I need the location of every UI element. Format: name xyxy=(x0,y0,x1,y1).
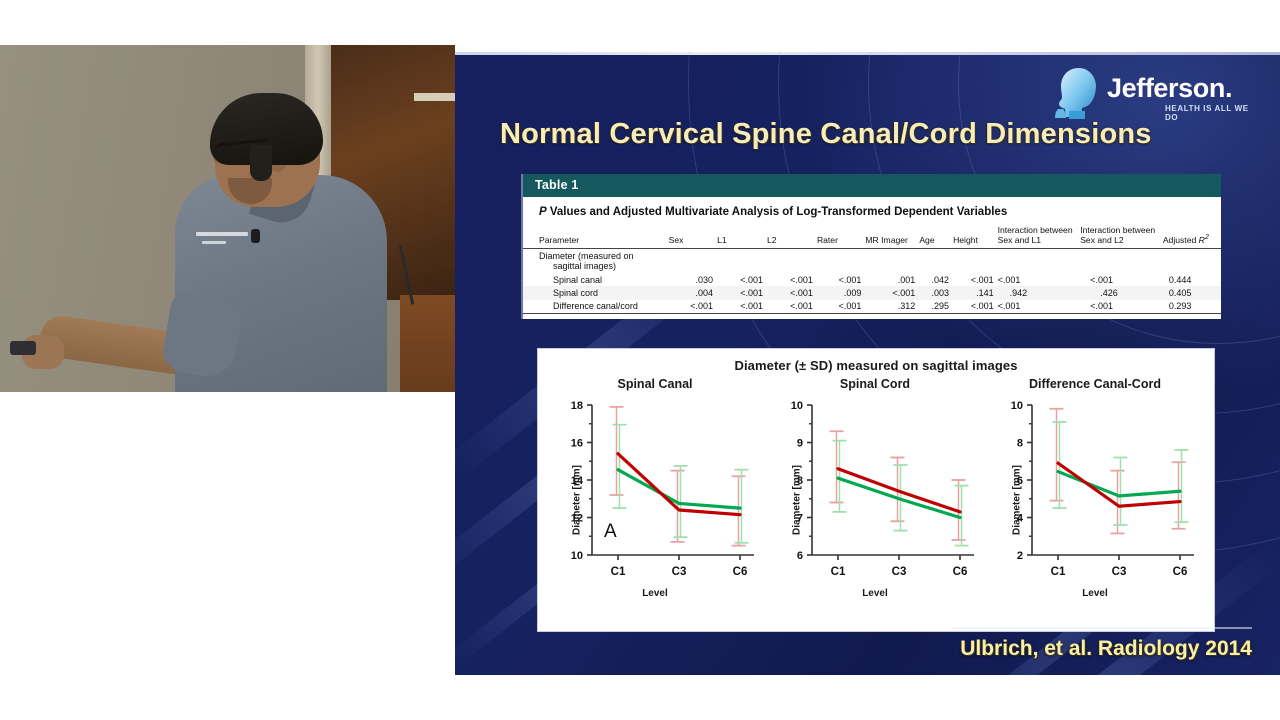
th-l2: L2 xyxy=(765,226,815,249)
cell-parameter: Spinal canal xyxy=(523,273,667,286)
svg-text:16: 16 xyxy=(571,438,583,450)
th-adjr2-text: Adjusted xyxy=(1163,235,1196,245)
cell-l1: <.001 xyxy=(715,300,765,313)
svg-text:10: 10 xyxy=(791,400,803,412)
table-row: Spinal canal .030 <.001 <.001 <.001 .001… xyxy=(523,273,1221,286)
svg-text:C1: C1 xyxy=(611,566,626,578)
panel-title: Spinal Cord xyxy=(766,377,984,395)
cell-l2: <.001 xyxy=(765,273,815,286)
figure-card: Diameter (± SD) measured on sagittal ima… xyxy=(537,348,1215,632)
th-int-l2-line1: Interaction between xyxy=(1080,225,1155,235)
svg-text:C1: C1 xyxy=(1051,566,1066,578)
table-bottom-rule xyxy=(523,313,1221,319)
th-l1: L1 xyxy=(715,226,765,249)
lapel-microphone xyxy=(251,229,260,243)
plot-area: 678910C1C3C6 Diameter [mm] Level xyxy=(766,395,984,605)
cell-age: .003 xyxy=(917,286,951,299)
svg-text:18: 18 xyxy=(571,400,583,412)
cell-rater: <.001 xyxy=(815,273,863,286)
cell-int-sex-l1: <.001 xyxy=(996,273,1079,286)
cell-int-sex-l2: <.001 xyxy=(1078,273,1161,286)
table-row: Spinal cord .004 <.001 <.001 .009 <.001 … xyxy=(523,286,1221,299)
caption-rest: Values and Adjusted Multivariate Analysi… xyxy=(547,206,1008,218)
cell-mr-imager: .312 xyxy=(863,300,917,313)
table-caption: P Values and Adjusted Multivariate Analy… xyxy=(523,197,1221,226)
table-header-row: Parameter Sex L1 L2 Rater MR Imager Age … xyxy=(523,226,1221,249)
presenter-video xyxy=(0,45,455,392)
th-rater: Rater xyxy=(815,226,863,249)
svg-text:10: 10 xyxy=(1011,400,1023,412)
door-stripe xyxy=(414,93,455,101)
profile-head-icon xyxy=(1055,67,1101,119)
cell-l2: <.001 xyxy=(765,300,815,313)
cell-int-sex-l1: .942 xyxy=(996,286,1079,299)
cell-age: .042 xyxy=(917,273,951,286)
cell-adj-r2: 0.293 xyxy=(1161,300,1221,313)
group-label: Diameter (measured on sagittal images) xyxy=(523,249,1221,273)
th-interaction-sex-l1: Interaction between Sex and L1 xyxy=(996,226,1079,249)
y-axis-label: Diameter [mm] xyxy=(572,465,583,535)
podium xyxy=(400,295,455,392)
table-group-row: Diameter (measured on sagittal images) xyxy=(523,249,1221,273)
svg-text:C6: C6 xyxy=(953,566,968,578)
figure-title: Diameter (± SD) measured on sagittal ima… xyxy=(538,349,1214,373)
jefferson-logo: Jefferson. HEALTH IS ALL WE DO xyxy=(1055,67,1255,122)
cell-rater: .009 xyxy=(815,286,863,299)
cell-int-sex-l2: .426 xyxy=(1078,286,1161,299)
cell-l1: <.001 xyxy=(715,273,765,286)
th-mr-imager: MR Imager xyxy=(863,226,917,249)
screen: Jefferson. HEALTH IS ALL WE DO Normal Ce… xyxy=(0,0,1280,720)
svg-text:C3: C3 xyxy=(892,566,907,578)
svg-text:C1: C1 xyxy=(831,566,846,578)
table-head: Parameter Sex L1 L2 Rater MR Imager Age … xyxy=(523,226,1221,249)
figure-panels: Spinal Canal 1012141618C1C3C6A Diameter … xyxy=(538,373,1214,605)
table-banner: Table 1 xyxy=(523,174,1221,197)
cell-height: .141 xyxy=(951,286,996,299)
th-interaction-sex-l2: Interaction between Sex and L2 xyxy=(1078,226,1161,249)
cell-sex: <.001 xyxy=(667,300,715,313)
panel-difference-canal-cord: Difference Canal-Cord 246810C1C3C6 Diame… xyxy=(986,377,1204,605)
cell-age: .295 xyxy=(917,300,951,313)
cell-rater: <.001 xyxy=(815,300,863,313)
svg-text:9: 9 xyxy=(797,438,803,450)
footer-rule xyxy=(952,627,1252,629)
cell-mr-imager: <.001 xyxy=(863,286,917,299)
th-adjusted-r2: Adjusted R2 xyxy=(1161,226,1221,249)
y-axis-label: Diameter [mm] xyxy=(792,465,803,535)
y-axis-label: Diameter [mm] xyxy=(1012,465,1023,535)
presentation-clicker xyxy=(10,341,36,355)
logo-wordmark: Jefferson. xyxy=(1107,73,1232,104)
pvalues-table: Parameter Sex L1 L2 Rater MR Imager Age … xyxy=(523,226,1221,313)
table-row: Difference canal/cord <.001 <.001 <.001 … xyxy=(523,300,1221,313)
svg-text:6: 6 xyxy=(797,550,803,562)
cell-int-sex-l1: <.001 xyxy=(996,300,1079,313)
svg-text:A: A xyxy=(604,521,617,542)
cell-l1: <.001 xyxy=(715,286,765,299)
panel-title: Spinal Canal xyxy=(546,377,764,395)
svg-text:C3: C3 xyxy=(1112,566,1127,578)
cell-adj-r2: 0.444 xyxy=(1161,273,1221,286)
th-age: Age xyxy=(917,226,951,249)
x-axis-label: Level xyxy=(766,588,984,599)
group-label-line1: Diameter (measured on xyxy=(539,251,634,261)
citation: Ulbrich, et al. Radiology 2014 xyxy=(960,637,1252,661)
th-int-l1-line2: Sex and L1 xyxy=(998,235,1041,245)
group-label-line2: sagittal images) xyxy=(539,261,616,271)
presentation-slide: Jefferson. HEALTH IS ALL WE DO Normal Ce… xyxy=(455,52,1280,675)
th-height: Height xyxy=(951,226,996,249)
svg-text:C3: C3 xyxy=(672,566,687,578)
svg-text:C6: C6 xyxy=(1173,566,1188,578)
panel-title: Difference Canal-Cord xyxy=(986,377,1204,395)
th-int-l2-line2: Sex and L2 xyxy=(1080,235,1123,245)
th-sex: Sex xyxy=(667,226,715,249)
panel-spinal-cord: Spinal Cord 678910C1C3C6 Diameter [mm] L… xyxy=(766,377,984,605)
cell-int-sex-l2: <.001 xyxy=(1078,300,1161,313)
table-body: Diameter (measured on sagittal images) S… xyxy=(523,249,1221,313)
cell-sex: .030 xyxy=(667,273,715,286)
x-axis-label: Level xyxy=(986,588,1204,599)
svg-text:2: 2 xyxy=(1017,550,1023,562)
table-card: Table 1 P Values and Adjusted Multivaria… xyxy=(521,174,1221,319)
scrub-logo xyxy=(196,230,248,248)
plot-area: 246810C1C3C6 Diameter [mm] Level xyxy=(986,395,1204,605)
cell-l2: <.001 xyxy=(765,286,815,299)
cell-sex: .004 xyxy=(667,286,715,299)
cell-mr-imager: .001 xyxy=(863,273,917,286)
th-adjr2-symbol: R2 xyxy=(1199,235,1209,245)
cell-parameter: Spinal cord xyxy=(523,286,667,299)
plot-area: 1012141618C1C3C6A Diameter [mm] Level xyxy=(546,395,764,605)
svg-text:8: 8 xyxy=(1017,438,1023,450)
th-parameter: Parameter xyxy=(523,226,667,249)
cell-height: <.001 xyxy=(951,300,996,313)
cell-height: <.001 xyxy=(951,273,996,286)
x-axis-label: Level xyxy=(546,588,764,599)
svg-text:10: 10 xyxy=(571,550,583,562)
cell-parameter: Difference canal/cord xyxy=(523,300,667,313)
th-int-l1-line1: Interaction between xyxy=(998,225,1073,235)
slide-title: Normal Cervical Spine Canal/Cord Dimensi… xyxy=(500,118,1200,151)
caption-italic-p: P xyxy=(539,206,547,218)
cell-adj-r2: 0.405 xyxy=(1161,286,1221,299)
svg-text:C6: C6 xyxy=(733,566,748,578)
panel-spinal-canal: Spinal Canal 1012141618C1C3C6A Diameter … xyxy=(546,377,764,605)
